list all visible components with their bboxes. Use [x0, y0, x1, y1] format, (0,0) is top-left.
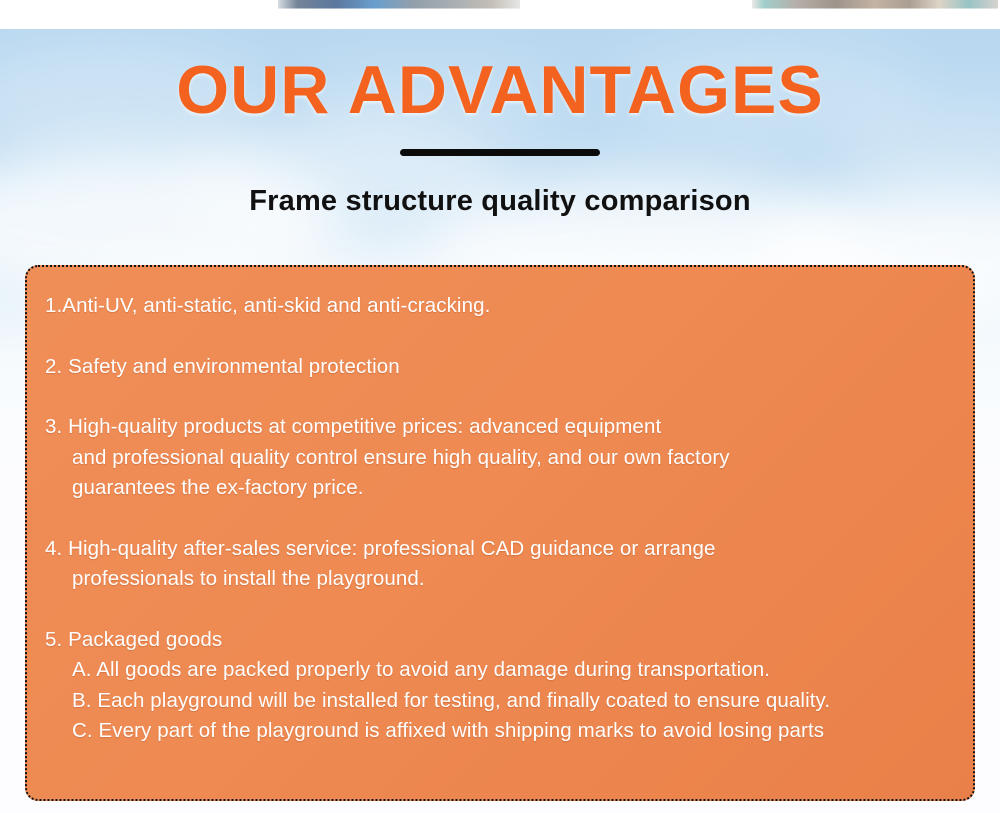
page-subtitle: Frame structure quality comparison — [0, 185, 1000, 218]
image-remnant-fade — [0, 8, 1000, 18]
page-title: OUR ADVANTAGES — [0, 56, 1000, 124]
list-item-subline: guarantees the ex-factory price. — [45, 473, 947, 504]
list-item-line: 1.Anti-UV, anti-static, anti-skid and an… — [45, 291, 947, 322]
header: OUR ADVANTAGES Frame structure quality c… — [0, 29, 1000, 218]
list-item-line: 4. High-quality after-sales service: pro… — [45, 534, 947, 565]
list-item-subline: B. Each playground will be installed for… — [45, 686, 947, 717]
top-white-band — [0, 0, 1000, 29]
list-item-subline: professionals to install the playground. — [45, 564, 947, 595]
advantages-list: 1.Anti-UV, anti-static, anti-skid and an… — [45, 291, 947, 747]
list-item-line: 3. High-quality products at competitive … — [45, 412, 947, 443]
list-item: 3. High-quality products at competitive … — [45, 412, 947, 504]
list-item: 5. Packaged goodsA. All goods are packed… — [45, 625, 947, 747]
list-item-subline: C. Every part of the playground is affix… — [45, 716, 947, 747]
list-item-line: 2. Safety and environmental protection — [45, 352, 947, 383]
advantages-panel: 1.Anti-UV, anti-static, anti-skid and an… — [25, 265, 975, 801]
title-divider — [400, 149, 600, 156]
list-item-subline: A. All goods are packed properly to avoi… — [45, 655, 947, 686]
list-item-line: 5. Packaged goods — [45, 625, 947, 656]
list-item: 1.Anti-UV, anti-static, anti-skid and an… — [45, 291, 947, 322]
page-root: OUR ADVANTAGES Frame structure quality c… — [0, 0, 1000, 813]
list-item: 2. Safety and environmental protection — [45, 352, 947, 383]
list-item: 4. High-quality after-sales service: pro… — [45, 534, 947, 595]
list-item-subline: and professional quality control ensure … — [45, 443, 947, 474]
